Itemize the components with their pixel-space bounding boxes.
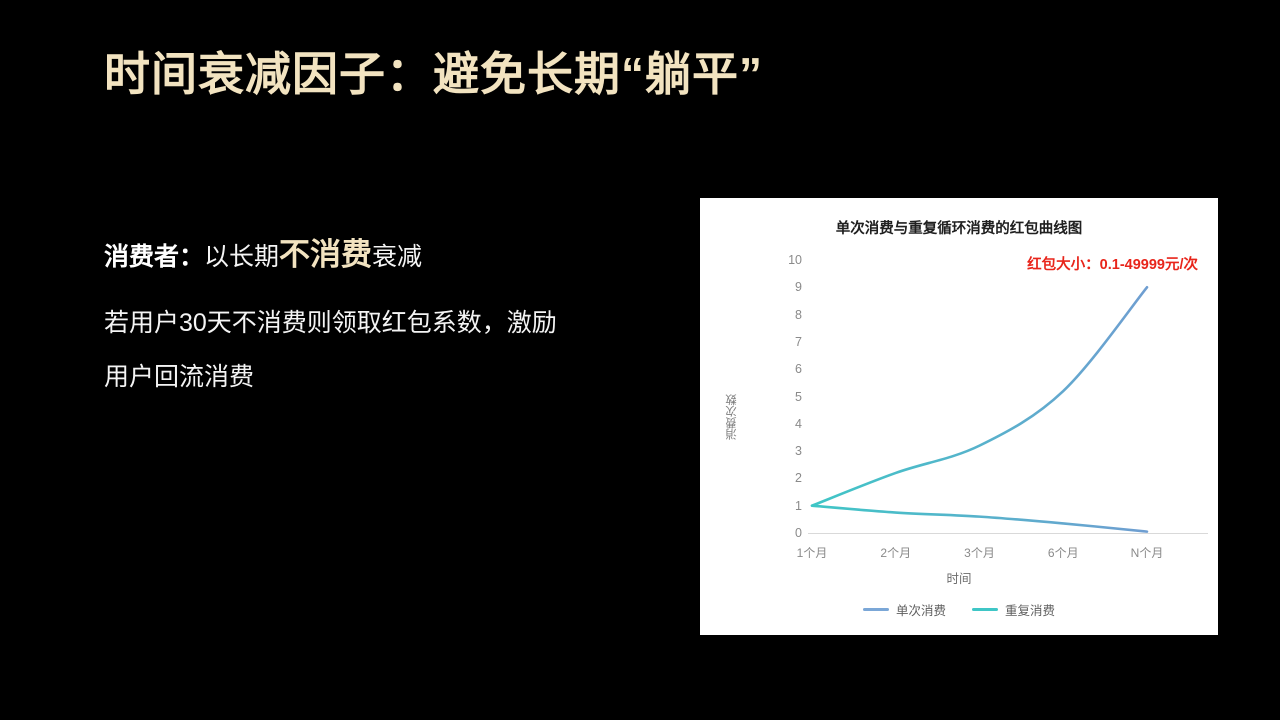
body-paragraph-line-2: 用户回流消费 xyxy=(104,350,644,404)
plot-area: 1098765432101个月2个月3个月6个月N个月 xyxy=(812,260,1147,533)
chart-panel: 单次消费与重复循环消费的红包曲线图 红包大小：0.1-49999元/次 消费次数… xyxy=(700,198,1218,635)
body-lead-prefix: 以长期 xyxy=(204,243,279,271)
x-axis-title: 时间 xyxy=(700,568,1218,587)
body-lead-line: 消费者：以长期不消费衰减 xyxy=(104,228,644,284)
legend-label: 单次消费 xyxy=(896,600,946,619)
y-axis-tick: 6 xyxy=(795,362,802,376)
legend-item[interactable]: 重复消费 xyxy=(972,600,1055,619)
y-axis-tick: 5 xyxy=(795,390,802,404)
chart-curves xyxy=(812,260,1177,553)
y-axis-tick: 2 xyxy=(795,471,802,485)
chart-series-line xyxy=(812,287,1147,505)
legend-label: 重复消费 xyxy=(1005,600,1055,619)
y-axis-tick: 8 xyxy=(795,308,802,322)
y-axis-tick: 7 xyxy=(795,335,802,349)
legend-swatch xyxy=(863,608,889,611)
body-lead-suffix: 衰减 xyxy=(372,243,422,271)
chart-legend: 单次消费重复消费 xyxy=(700,600,1218,619)
y-axis-title: 消费次数 xyxy=(724,394,740,440)
body-lead-label: 消费者： xyxy=(104,243,204,271)
legend-item[interactable]: 单次消费 xyxy=(863,600,946,619)
y-axis-tick: 0 xyxy=(795,526,802,540)
y-axis-tick: 3 xyxy=(795,444,802,458)
page-title: 时间衰减因子：避免长期“躺平” xyxy=(104,48,763,101)
y-axis-tick: 4 xyxy=(795,417,802,431)
body-copy: 消费者：以长期不消费衰减 若用户30天不消费则领取红包系数，激励 用户回流消费 xyxy=(104,228,644,404)
y-axis-tick: 10 xyxy=(788,253,802,267)
chart-title: 单次消费与重复循环消费的红包曲线图 xyxy=(700,217,1218,238)
y-axis-tick: 9 xyxy=(795,280,802,294)
body-paragraph-line-1: 若用户30天不消费则领取红包系数，激励 xyxy=(104,296,644,350)
y-axis-tick: 1 xyxy=(795,499,802,513)
chart-series-line xyxy=(812,506,1147,532)
body-lead-highlight: 不消费 xyxy=(279,237,372,272)
legend-swatch xyxy=(972,608,998,611)
